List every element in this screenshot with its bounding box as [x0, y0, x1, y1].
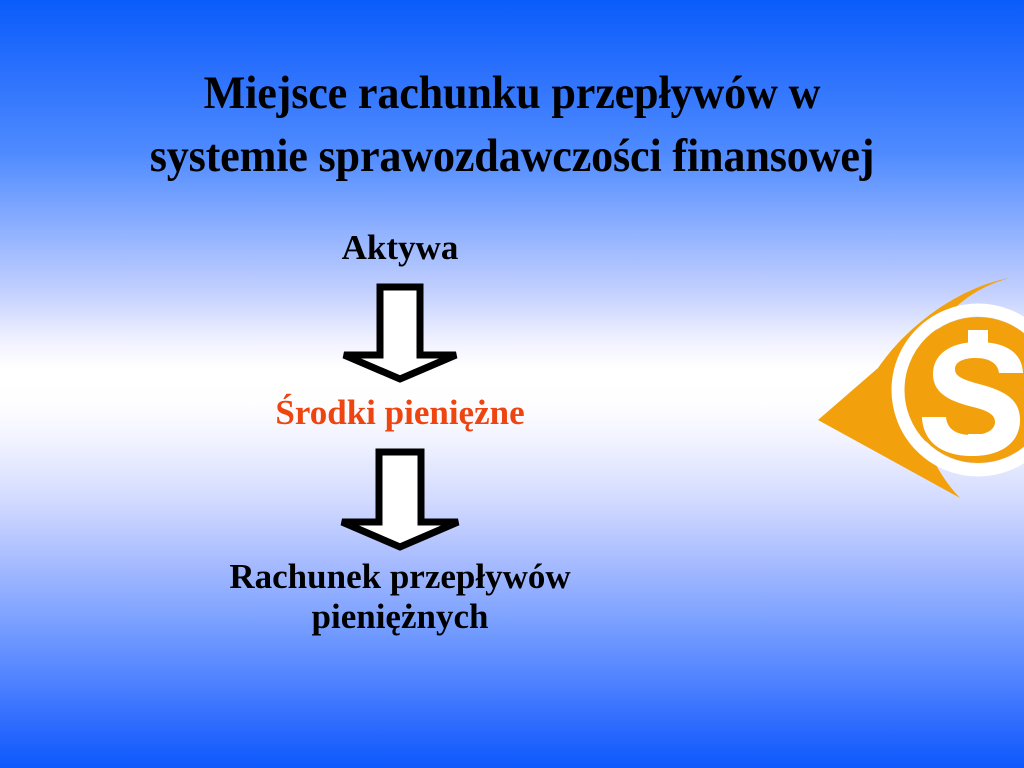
spacer — [100, 267, 700, 283]
flow-node-rachunek-przeplywow: Rachunek przepływów pieniężnych — [100, 557, 700, 635]
flow-node-rachunek-line-2: pieniężnych — [312, 597, 489, 636]
spacer — [100, 432, 700, 448]
dollar-coin-icon — [812, 272, 1024, 504]
dollar-coin-graphic — [812, 272, 1024, 504]
flow-node-rachunek-line-1: Rachunek przepływów — [229, 557, 570, 596]
slide-canvas: Miejsce rachunku przepływów w systemie s… — [0, 0, 1024, 768]
flow-connector-2 — [100, 448, 700, 551]
page-title-line-1: Miejsce rachunku przepływów w — [31, 62, 994, 125]
flow-node-srodki-pieniezne: Środki pieniężne — [100, 393, 700, 432]
down-arrow-icon — [339, 283, 461, 383]
flow-node-aktywa: Aktywa — [100, 228, 700, 267]
page-title: Miejsce rachunku przepływów w systemie s… — [31, 62, 994, 187]
flow-connector-1 — [100, 283, 700, 383]
page-title-line-2: systemie sprawozdawczości finansowej — [31, 125, 994, 188]
flow-diagram: Aktywa Środki pieniężne Rachunek przepły… — [100, 228, 700, 636]
down-arrow-icon — [337, 448, 463, 551]
spacer — [100, 383, 700, 393]
